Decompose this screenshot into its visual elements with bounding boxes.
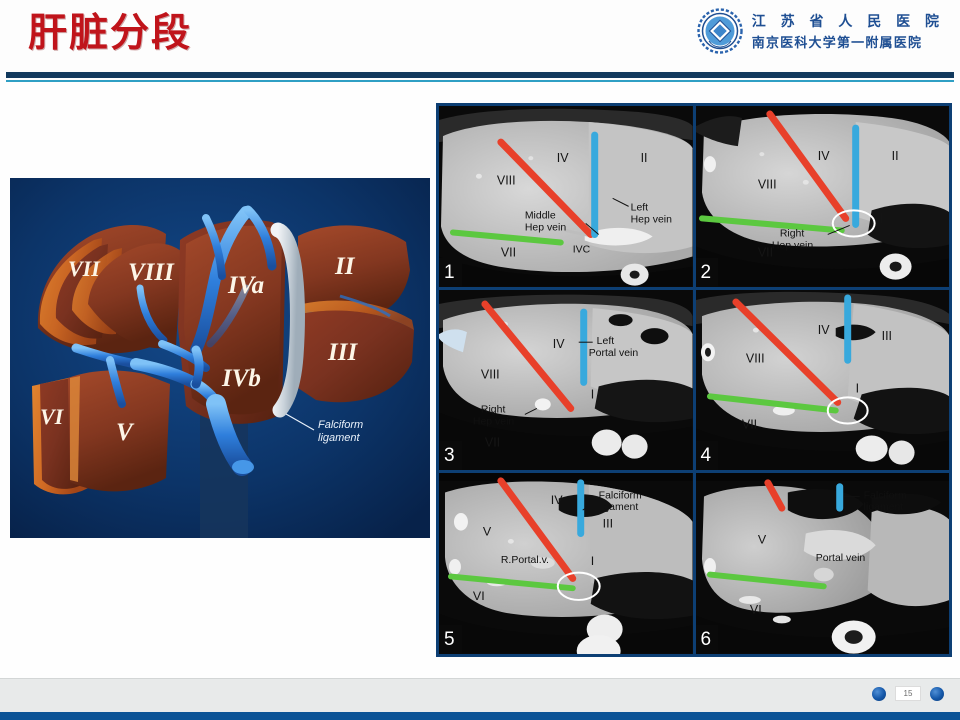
ct6-anno-falciform-l1: Falciform (863, 491, 906, 502)
ct6-segment-v: V (757, 533, 766, 547)
liver-segment-viii: VIII (128, 259, 175, 286)
ct2-segment-iv: IV (817, 149, 829, 163)
liver-segment-ii: II (334, 253, 356, 280)
liver-segment-iva: IVa (227, 272, 264, 299)
ct5-segment-i: I (591, 554, 594, 568)
hospital-emblem-icon (697, 8, 743, 54)
ct2-segment-vii: VII (757, 246, 772, 260)
page-number-indicator: 15 (895, 686, 921, 701)
ct5-segment-v: V (483, 525, 492, 539)
ct5-segment-vi: VI (473, 589, 485, 603)
ct1-anno-left-hep-vein-l2: Hep vein (631, 213, 672, 225)
ct5-anno-falciform-l2: ligament (599, 503, 639, 514)
ct1-anno-left-hep-vein-l1: Left (631, 201, 649, 213)
ct-panel-1[interactable]: VIII IV II VII Middle Hep vein Left Hep … (439, 106, 693, 287)
header-rule-thick (6, 72, 954, 78)
slide-header: 肝脏分段 江 苏 省 人 民 医 院 南京医科大学第一附属医院 (0, 0, 960, 72)
ct3-segment-viii: VIII (481, 367, 500, 381)
ct2-segment-ii: II (891, 149, 898, 163)
ct6-anno-portal-vein: Portal vein (815, 553, 865, 564)
falciform-label-line2: ligament (318, 432, 361, 444)
ct-panel-number-5: 5 (439, 625, 462, 654)
ct2-anno-right-hep-vein-l1: Right (779, 227, 804, 239)
ct3-anno-right-hep-vein-l1: Right (481, 403, 506, 415)
ct3-right-hep-vein-spot (535, 398, 551, 410)
ct-panel-5[interactable]: V IV III I VI Falciform ligament R.Porta… (439, 473, 693, 654)
ct-panel-number-6: 6 (696, 625, 719, 654)
ct1-anno-ivc: IVC (573, 244, 591, 256)
ct-panel-2[interactable]: VIII IV II I VII Right Hep vein 2 (696, 106, 950, 287)
header-rule-thin (6, 80, 954, 82)
slide: 肝脏分段 江 苏 省 人 民 医 院 南京医科大学第一附属医院 (0, 0, 960, 720)
ct1-segment-viii: VIII (497, 173, 516, 187)
ct6-anno-falciform-l2: ligament (863, 503, 903, 514)
ct5-segment-iv: IV (551, 494, 564, 508)
ct3-segment-iv: IV (553, 337, 565, 351)
ct-panel-number-2: 2 (696, 258, 719, 287)
liver-anatomy-diagram: VII VIII IVa II III IVb VI V Falciform l… (10, 178, 430, 538)
ct-panel-3[interactable]: VIII IV I VII Left Portal vein Right Hep… (439, 290, 693, 471)
ct-panel-4[interactable]: VIII IV III I VII 4 (696, 290, 950, 471)
hospital-brand: 江 苏 省 人 民 医 院 南京医科大学第一附属医院 (697, 8, 944, 54)
liver-segment-iii: III (327, 339, 358, 366)
nav-dot-next-icon[interactable] (930, 687, 944, 701)
ct4-segment-iii: III (881, 329, 891, 343)
ct1-segment-ii: II (641, 151, 648, 165)
ct5-anno-right-portal-vein: R.Portal.v. (501, 555, 549, 566)
ct-panel-number-4: 4 (696, 441, 719, 470)
ct4-segment-vii: VII (741, 417, 756, 431)
ct1-segment-iv: IV (557, 151, 569, 165)
portal-trunk-cut-face (232, 460, 254, 474)
liver-inferior-segments (32, 371, 170, 495)
liver-segment-vii: VII (68, 256, 101, 281)
ct2-segment-viii: VIII (757, 177, 776, 191)
ct3-segment-i: I (591, 387, 594, 401)
hospital-brand-text: 江 苏 省 人 民 医 院 南京医科大学第一附属医院 (752, 11, 944, 51)
liver-illustration-svg: VII VIII IVa II III IVb VI V Falciform l… (10, 178, 430, 538)
ct6-segment-vi: VI (749, 603, 761, 617)
hospital-name-secondary: 南京医科大学第一附属医院 (752, 32, 944, 51)
ct4-segment-viii: VIII (745, 351, 764, 365)
ct1-anno-middle-hep-vein-l1: Middle (525, 209, 556, 221)
ct2-anno-right-hep-vein-l2: Hep vein (771, 239, 812, 251)
page-title: 肝脏分段 (28, 11, 192, 57)
ct3-segment-vii: VII (485, 435, 500, 449)
ct5-segment-iii: III (603, 517, 613, 531)
slide-footer (0, 678, 960, 712)
footer-accent-strip (0, 712, 960, 720)
ct1-anno-middle-hep-vein-l2: Hep vein (525, 221, 566, 233)
ct4-segment-i: I (855, 381, 858, 395)
ct2-segment-i: I (879, 211, 882, 225)
ct3-anno-right-hep-vein-l2: Hep vein (473, 415, 514, 427)
ct-panel-6[interactable]: V VI Falciform ligament Portal vein 6 (696, 473, 950, 654)
nav-dot-prev-icon[interactable] (872, 687, 886, 701)
liver-segment-ivb: IVb (221, 365, 261, 392)
ct5-anno-falciform-l1: Falciform (599, 491, 642, 502)
ct1-segment-vii: VII (501, 246, 516, 260)
liver-segment-v: V (116, 419, 135, 446)
ct3-anno-left-portal-vein-l1: Left (597, 335, 615, 347)
ct-panel-number-3: 3 (439, 441, 462, 470)
falciform-label-line1: Falciform (318, 419, 363, 431)
slide-navigation: 15 (872, 686, 944, 701)
liver-segment-vi: VI (40, 404, 65, 429)
ct4-segment-iv: IV (817, 323, 829, 337)
hospital-name-primary: 江 苏 省 人 民 医 院 (752, 11, 944, 31)
ct-panel-grid: VIII IV II VII Middle Hep vein Left Hep … (436, 103, 952, 657)
ct-panel-number-1: 1 (439, 258, 462, 287)
liver-left-lobe (298, 225, 414, 402)
ct3-anno-left-portal-vein-l2: Portal vein (589, 347, 639, 359)
